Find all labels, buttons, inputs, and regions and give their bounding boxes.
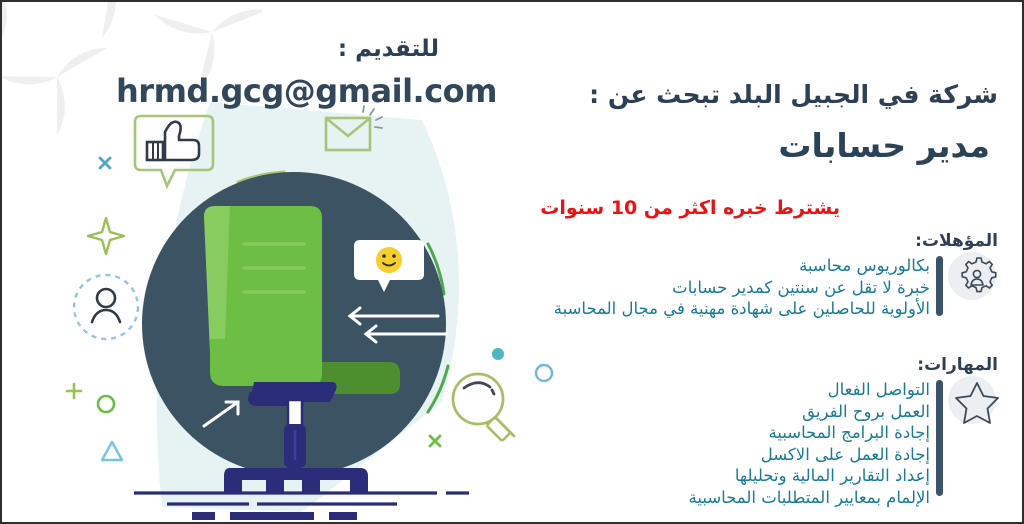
cross-icon <box>430 436 440 446</box>
list-item: إجادة العمل على الاكسل <box>689 444 930 466</box>
ring-icon <box>536 365 552 381</box>
triangle-icon <box>102 442 122 460</box>
experience-requirement: يشترط خبره اكثر من 10 سنوات <box>540 197 840 219</box>
plus-icon <box>67 384 81 398</box>
list-item: الإلمام بمعايير المتطلبات المحاسبية <box>689 487 930 509</box>
person-avatar-icon <box>74 275 138 339</box>
skills-title: المهارات: <box>917 355 998 375</box>
list-item: التواصل الفعال <box>689 379 930 401</box>
apply-label: للتقديم : <box>338 36 439 62</box>
qualifications-accent-bar <box>936 256 943 316</box>
qualifications-title: المؤهلات: <box>915 231 998 251</box>
job-title: مدير حسابات <box>770 124 998 169</box>
list-item: خبرة لا تقل عن سنتين كمدير حسابات <box>554 277 930 299</box>
ring-icon <box>98 396 114 412</box>
magnifier-icon <box>453 374 514 441</box>
job-title-row: مدير حسابات <box>398 124 998 169</box>
job-poster: للتقديم : hrmd.gcg@gmail.com شركة في الج… <box>0 0 1024 524</box>
star-icon <box>948 376 1004 432</box>
list-item: إجادة البرامج المحاسبية <box>689 422 930 444</box>
envelope-icon <box>320 104 384 162</box>
cross-icon <box>100 158 110 168</box>
skills-accent-bar <box>936 380 943 496</box>
gear-person-icon <box>948 252 1004 308</box>
list-item: الأولوية للحاصلين على شهادة مهنية في مجا… <box>554 298 930 320</box>
company-intro: شركة في الجبيل البلد تبحث عن : <box>398 80 998 109</box>
list-item: إعداد التقارير المالية وتحليلها <box>689 465 930 487</box>
thumbs-up-icon <box>131 110 217 194</box>
decor-right-cluster <box>422 332 602 472</box>
list-item: بكالوريوس محاسبة <box>554 255 930 277</box>
qualifications-list: بكالوريوس محاسبة خبرة لا تقل عن سنتين كم… <box>554 255 930 320</box>
dot-icon <box>492 348 504 360</box>
list-item: العمل بروح الفريق <box>689 401 930 423</box>
skills-list: التواصل الفعال العمل بروح الفريق إجادة ا… <box>689 379 930 508</box>
sparkle-icon <box>88 218 124 254</box>
